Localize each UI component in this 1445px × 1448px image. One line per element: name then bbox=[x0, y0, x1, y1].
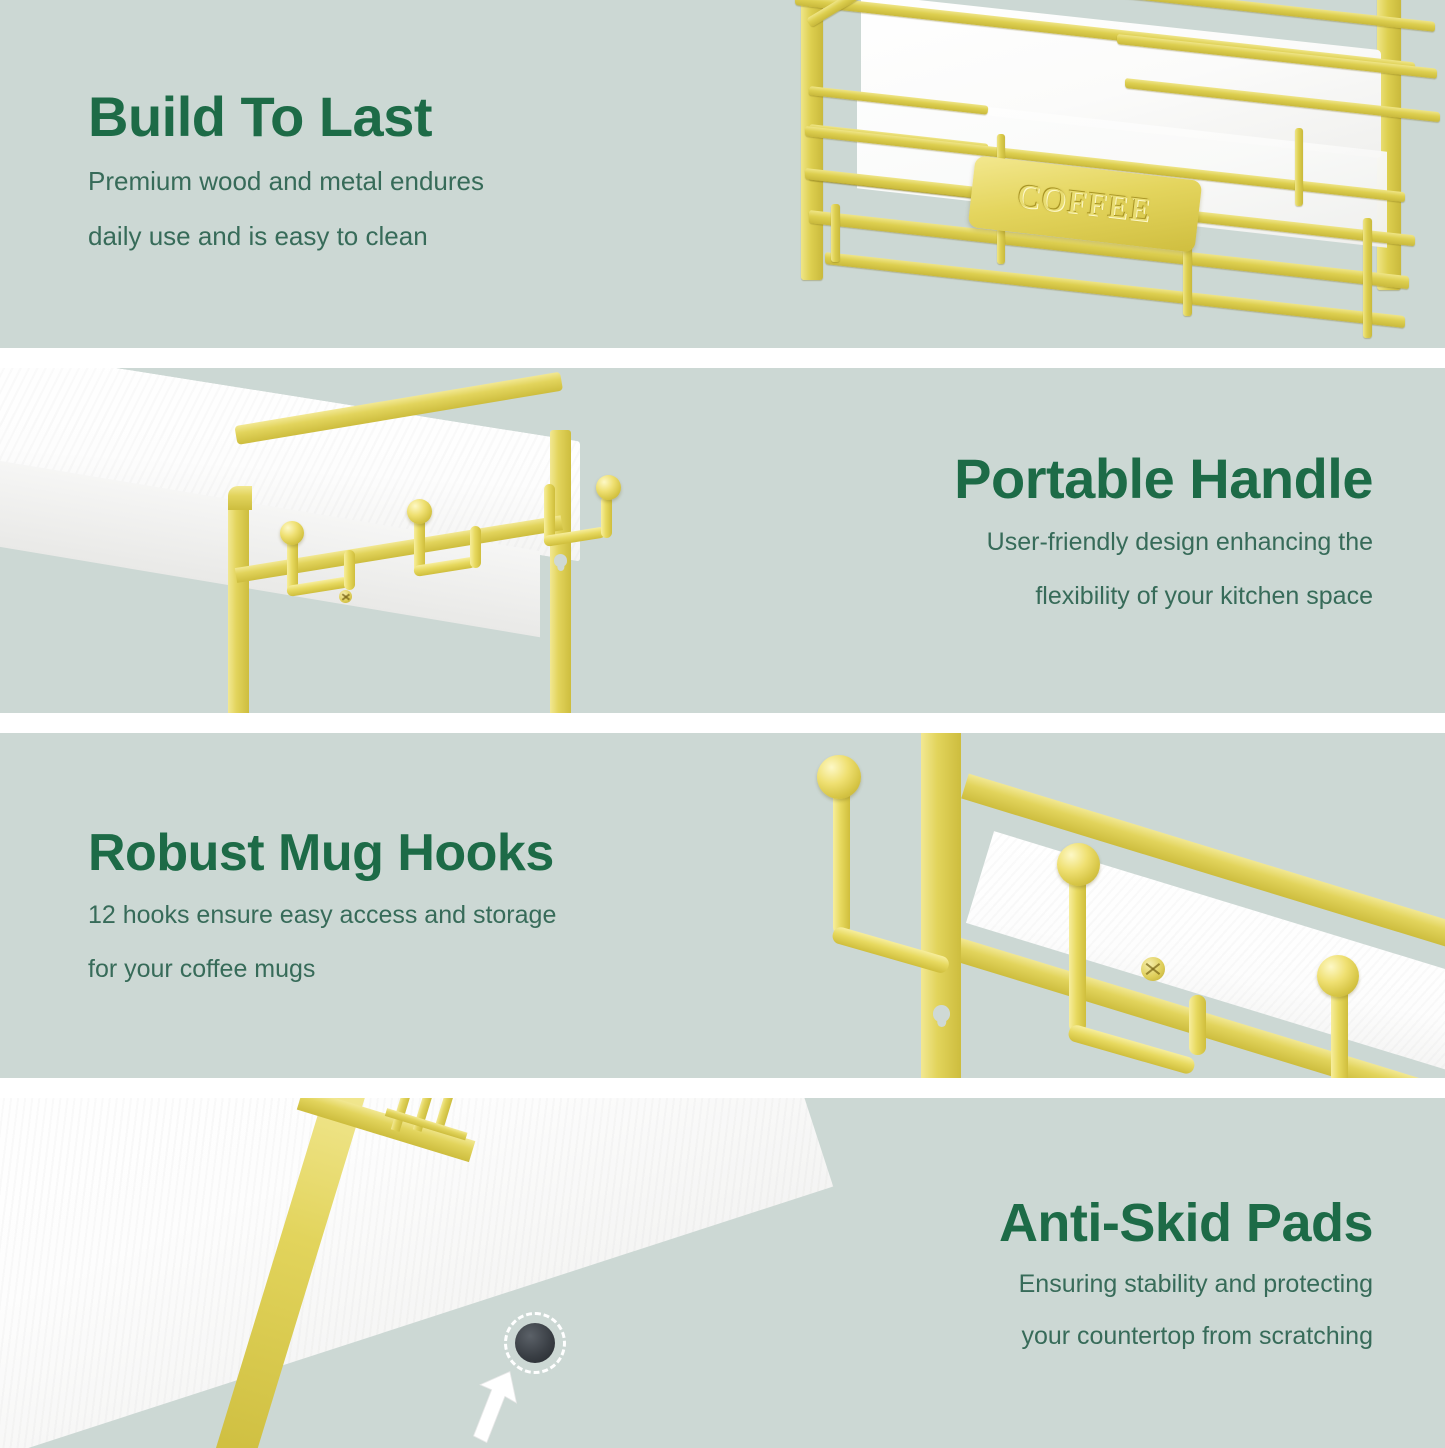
product-image-coffee-rack: COFFEE bbox=[765, 0, 1445, 348]
panel-title: Robust Mug Hooks bbox=[88, 827, 556, 880]
panel-subtitle-line2: for your coffee mugs bbox=[88, 952, 556, 988]
pointer-arrow-icon bbox=[462, 1366, 528, 1448]
feature-infographic: COFFEE Build To Last Premium wood and me… bbox=[0, 0, 1445, 1448]
panel-text-portable-handle: Portable Handle User-friendly design enh… bbox=[954, 450, 1373, 614]
feature-panel-anti-skid-pads: Anti-Skid Pads Ensuring stability and pr… bbox=[0, 1098, 1445, 1448]
panel-text-robust-mug-hooks: Robust Mug Hooks 12 hooks ensure easy ac… bbox=[88, 827, 556, 987]
panel-subtitle-line1: 12 hooks ensure easy access and storage bbox=[88, 898, 556, 934]
panel-subtitle-line2: daily use and is easy to clean bbox=[88, 218, 484, 255]
panel-subtitle-line1: User-friendly design enhancing the bbox=[954, 525, 1373, 561]
feature-panel-portable-handle: Portable Handle User-friendly design enh… bbox=[0, 368, 1445, 713]
coffee-plaque-text: COFFEE bbox=[1016, 178, 1154, 230]
product-image-anti-skid-pad bbox=[0, 1098, 700, 1448]
panel-title: Build To Last bbox=[88, 88, 484, 145]
panel-subtitle-line1: Ensuring stability and protecting bbox=[999, 1267, 1373, 1303]
panel-title: Anti-Skid Pads bbox=[999, 1196, 1373, 1251]
panel-subtitle-line2: your countertop from scratching bbox=[999, 1319, 1373, 1355]
panel-title: Portable Handle bbox=[954, 450, 1373, 507]
product-image-portable-handle bbox=[0, 368, 700, 713]
anti-skid-pad bbox=[515, 1323, 555, 1363]
product-image-mug-hooks bbox=[765, 733, 1445, 1078]
keyhole-slot bbox=[933, 1005, 950, 1022]
panel-subtitle-line2: flexibility of your kitchen space bbox=[954, 579, 1373, 615]
panel-text-build-to-last: Build To Last Premium wood and metal end… bbox=[88, 88, 484, 255]
screw-head bbox=[1141, 957, 1165, 981]
feature-panel-robust-mug-hooks: Robust Mug Hooks 12 hooks ensure easy ac… bbox=[0, 733, 1445, 1078]
panel-subtitle-line1: Premium wood and metal endures bbox=[88, 163, 484, 200]
panel-text-anti-skid-pads: Anti-Skid Pads Ensuring stability and pr… bbox=[999, 1196, 1373, 1354]
keyhole-slot bbox=[554, 554, 567, 567]
feature-panel-build-to-last: COFFEE Build To Last Premium wood and me… bbox=[0, 0, 1445, 348]
screw-head bbox=[339, 590, 352, 603]
